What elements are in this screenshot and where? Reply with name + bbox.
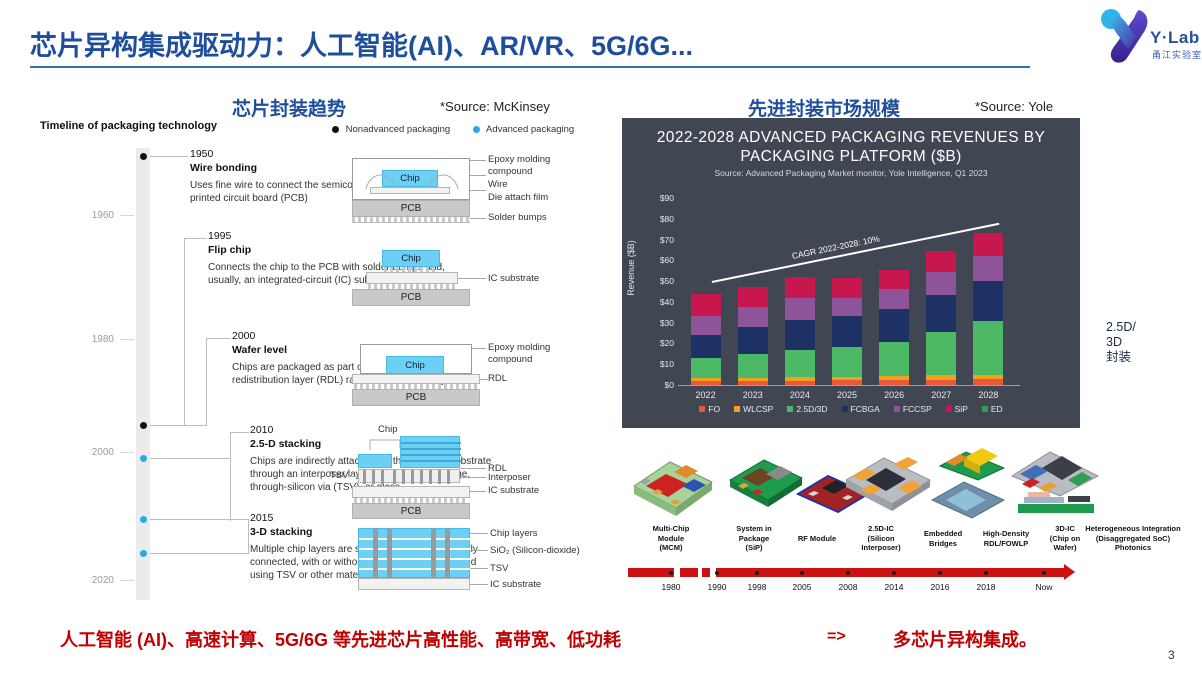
chart-ytick-50: $50	[644, 276, 674, 286]
roadmap-year-2014: 2014	[874, 582, 914, 592]
connector-2010-stub	[150, 458, 230, 459]
chart-segment-2.5D/3D	[879, 342, 909, 376]
chart-xtick-2024: 2024	[775, 390, 825, 400]
axis-year-1980: 1980	[74, 334, 114, 345]
legend-item-advanced: Advanced packaging	[473, 124, 574, 135]
right-section-source: *Source: Yole	[975, 99, 1053, 114]
roadmap-caption-1: System in Package (SiP)	[722, 524, 786, 553]
chip-block: Chip	[386, 356, 444, 374]
roadmap-bar-seg-2	[702, 568, 710, 577]
label-die-attach-film: Die attach film	[488, 192, 548, 204]
high-density-rdl-icon	[934, 440, 1014, 482]
chart-subtitle: Source: Advanced Packaging Market monito…	[622, 168, 1080, 178]
chart-segment-FCCSP	[832, 298, 862, 317]
connector-1995	[184, 238, 207, 425]
pcb-block: PCB	[352, 200, 470, 217]
lead-die-attach	[470, 190, 486, 191]
chart-legend-item-2.5D/3D: 2.5D/3D	[787, 404, 827, 414]
label-wire: Wire	[488, 179, 508, 191]
timeline-dot-2000	[140, 422, 147, 429]
chart-legend-swatch-ED	[982, 406, 988, 412]
conclusion-right: 多芯片异构集成。	[893, 626, 1037, 652]
stacked-chip-block	[400, 436, 460, 468]
three-d-diagram: Chip layers SiO₂ (Silicon-dioxide) TSV I…	[352, 528, 602, 594]
chart-segment-FCCSP	[738, 307, 768, 327]
photonics-icon	[1014, 486, 1098, 518]
roadmap-caption-3: 2.5D-IC (Silicon Interposer)	[848, 524, 914, 553]
highlight-brace	[1094, 336, 1102, 404]
connector-1950	[150, 156, 188, 157]
flip-chip-diagram: Chip PCB IC substrate	[352, 250, 602, 308]
pcb-block: PCB	[352, 389, 480, 406]
chart-segment-FCCSP	[691, 316, 721, 335]
timeline-dot-2015a	[140, 516, 147, 523]
chart-segment-FO	[738, 381, 768, 385]
chart-segment-FCBGA	[879, 309, 909, 342]
chart-segment-2.5D/3D	[973, 321, 1003, 375]
chart-plot-area	[682, 198, 1012, 385]
axis-year-1960: 1960	[74, 210, 114, 221]
interposer-block	[358, 469, 460, 483]
roadmap-dot-1980	[669, 571, 673, 575]
timeline-legend: Nonadvanced packaging Advanced packaging	[332, 124, 594, 135]
yole-chart-panel: 2022-2028 ADVANCED PACKAGING REVENUES BY…	[622, 118, 1080, 428]
roadmap-caption-2: RF Module	[786, 534, 848, 544]
conclusion-left: 人工智能 (AI)、高速计算、5G/6G 等先进芯片高性能、高带宽、低功耗	[60, 626, 621, 652]
chart-legend-item-FCCSP: FCCSP	[894, 404, 932, 414]
chart-legend-item-WLCSP: WLCSP	[734, 404, 773, 414]
label-chip: Chip	[378, 424, 398, 436]
lead-solder-bumps	[470, 218, 486, 219]
legend-item-nonadvanced: Nonadvanced packaging	[332, 124, 450, 135]
lead-tsv	[350, 476, 358, 477]
legend-label-nonadvanced: Nonadvanced packaging	[346, 124, 451, 135]
roadmap-arrow-icon	[1064, 564, 1075, 580]
label-chip-layers: Chip layers	[490, 528, 538, 540]
timeline-dot-2015b	[140, 550, 147, 557]
chart-ytick-70: $70	[644, 235, 674, 245]
chart-bar-2027	[926, 251, 956, 385]
ic-substrate-block	[358, 578, 470, 590]
timeline-axis-track	[136, 148, 150, 600]
chart-bar-2028	[973, 233, 1003, 385]
chip-block: Chip	[382, 250, 440, 267]
highlight-dash	[1084, 352, 1096, 354]
roadmap-year-2016: 2016	[920, 582, 960, 592]
chip-layer-stack	[358, 528, 470, 578]
chip-block-left	[358, 454, 392, 468]
page-number: 3	[1168, 648, 1175, 662]
roadmap-caption-4: Embedded Bridges	[910, 529, 976, 548]
timeline-dot-1950	[140, 153, 147, 160]
roadmap-year-1998: 1998	[737, 582, 777, 592]
chart-segment-FO	[691, 381, 721, 385]
roadmap-bar-seg-3	[716, 568, 1064, 577]
chart-segment-FCCSP	[879, 289, 909, 309]
lead-ic-substrate	[470, 584, 488, 585]
chart-segment-2.5D/3D	[738, 354, 768, 378]
roadmap-dot-2014	[892, 571, 896, 575]
lead-ic-substrate	[458, 278, 486, 279]
chart-segment-FCBGA	[926, 295, 956, 331]
chart-legend-swatch-SiP	[946, 406, 952, 412]
chart-legend-label-ED: ED	[991, 404, 1003, 414]
chart-baseline	[678, 385, 1020, 386]
chart-ytick-40: $40	[644, 297, 674, 307]
chart-xtick-2028: 2028	[963, 390, 1013, 400]
chart-segment-FCBGA	[738, 327, 768, 354]
label-ic-substrate: IC substrate	[488, 273, 539, 285]
chart-segment-FCCSP	[785, 298, 815, 320]
logo-subtext: 甬江实验室	[1152, 48, 1202, 61]
roadmap-bar-seg-1	[680, 568, 698, 577]
connector-2015b-stub	[150, 553, 248, 554]
connector-2015-vert	[248, 519, 249, 554]
roadmap-dot-2018	[984, 571, 988, 575]
chart-bar-2025	[832, 278, 862, 385]
chart-title: 2022-2028 ADVANCED PACKAGING REVENUES BY…	[622, 128, 1080, 166]
chart-annotation-text: 2.5D/ 3D 封装	[1106, 320, 1136, 365]
chart-segment-FO	[832, 380, 862, 385]
chart-segment-FO	[973, 379, 1003, 385]
axis-tick-2020	[120, 580, 134, 581]
lead-wire	[470, 175, 486, 176]
slide-root: 芯片异构集成驱动力：人工智能(AI)、AR/VR、5G/6G... Y·Lab …	[0, 0, 1202, 676]
label-ic-substrate: IC substrate	[488, 485, 539, 497]
timeline-panel-title: Timeline of packaging technology	[40, 120, 217, 132]
roadmap-dot-1990	[715, 571, 719, 575]
label-epoxy-molding: Epoxy molding compound	[488, 342, 550, 366]
roadmap-year-2008: 2008	[828, 582, 868, 592]
solder-bumps-row	[352, 217, 470, 223]
label-ic-substrate: IC substrate	[490, 579, 541, 591]
right-section-heading: 先进封装市场规模	[748, 94, 900, 121]
chart-segment-FCCSP	[926, 272, 956, 295]
lead-rdl	[460, 468, 486, 469]
chart-segment-SiP	[879, 270, 909, 289]
two-five-d-diagram: Chip TSV PCB RDL	[352, 424, 602, 514]
chart-xtick-2026: 2026	[869, 390, 919, 400]
chart-legend-label-FCBGA: FCBGA	[851, 404, 880, 414]
chart-legend-label-WLCSP: WLCSP	[743, 404, 773, 414]
chart-segment-FCBGA	[785, 320, 815, 350]
roadmap-caption-5: High-Density RDL/FOWLP	[968, 529, 1044, 548]
chart-segment-SiP	[785, 277, 815, 298]
roadmap-bar-seg-0	[628, 568, 674, 577]
legend-swatch-nonadvanced	[332, 126, 339, 133]
axis-tick-2000	[120, 452, 134, 453]
left-section-source: *Source: McKinsey	[440, 99, 550, 114]
bond-wire-icon	[360, 168, 464, 190]
axis-tick-1960	[120, 215, 134, 216]
label-epoxy-molding: Epoxy molding compound	[488, 154, 550, 178]
label-sio2: SiO₂ (Silicon-dioxide)	[490, 545, 580, 557]
logo-text: Y·Lab	[1150, 28, 1200, 48]
chart-ytick-10: $10	[644, 359, 674, 369]
chart-legend-label-FCCSP: FCCSP	[903, 404, 932, 414]
roadmap-dot-2016	[938, 571, 942, 575]
chart-ytick-0: $0	[644, 380, 674, 390]
chart-ytick-90: $90	[644, 193, 674, 203]
roadmap-year-2005: 2005	[782, 582, 822, 592]
roadmap-dot-Now	[1042, 571, 1046, 575]
connector-2010	[230, 432, 249, 521]
roadmap-year-2018: 2018	[966, 582, 1006, 592]
roadmap-caption-0: Multi-Chip Module (MCM)	[636, 524, 706, 553]
label-rdl: RDL	[488, 373, 507, 385]
wafer-level-diagram: Chip PCB Epoxy molding compound RDL	[352, 342, 602, 404]
roadmap-year-1980: 1980	[651, 582, 691, 592]
legend-swatch-advanced	[473, 126, 480, 133]
axis-year-2020: 2020	[74, 575, 114, 586]
lead-epoxy	[472, 348, 486, 349]
event-year: 1995	[208, 230, 456, 243]
label-tsv: TSV	[490, 563, 508, 575]
roadmap-dot-2008	[846, 571, 850, 575]
chart-legend-swatch-FCBGA	[842, 406, 848, 412]
left-section-heading: 芯片封装趋势	[232, 94, 346, 121]
chart-ytick-20: $20	[644, 338, 674, 348]
ic-substrate-block	[366, 272, 458, 284]
roadmap-caption-7: Heterogeneous Integration (Disaggregated…	[1074, 524, 1192, 553]
label-tsv: TSV	[330, 470, 348, 482]
chart-ytick-60: $60	[644, 255, 674, 265]
y-lab-logo-icon	[1098, 6, 1156, 66]
pcb-block: PCB	[352, 289, 470, 306]
lead-interposer	[460, 477, 486, 478]
chart-bar-2022	[691, 294, 721, 385]
chart-legend-item-SiP: SiP	[946, 404, 968, 414]
chart-xtick-2025: 2025	[822, 390, 872, 400]
chart-ytick-30: $30	[644, 318, 674, 328]
roadmap-year-1990: 1990	[697, 582, 737, 592]
connector-2015a-stub	[150, 519, 248, 520]
chart-ytick-80: $80	[644, 214, 674, 224]
lead-sio2	[470, 550, 488, 551]
page-title: 芯片异构集成驱动力：人工智能(AI)、AR/VR、5G/6G...	[30, 24, 693, 63]
timeline-dot-2010	[140, 455, 147, 462]
chart-segment-FO	[926, 380, 956, 385]
chart-legend-swatch-2.5D/3D	[787, 406, 793, 412]
chart-segment-SiP	[691, 294, 721, 317]
chart-segment-FO	[879, 380, 909, 385]
chart-segment-SiP	[738, 287, 768, 307]
chart-segment-2.5D/3D	[926, 332, 956, 376]
roadmap-dot-1998	[755, 571, 759, 575]
chart-legend-swatch-FO	[699, 406, 705, 412]
wire-bonding-diagram: Chip PCB Epoxy molding compound Wire Die…	[352, 152, 602, 222]
chart-legend: FOWLCSP2.5D/3DFCBGAFCCSPSiPED	[622, 404, 1080, 414]
legend-label-advanced: Advanced packaging	[486, 124, 574, 135]
chart-bar-2026	[879, 270, 909, 385]
chart-xtick-2022: 2022	[681, 390, 731, 400]
chart-legend-swatch-FCCSP	[894, 406, 900, 412]
chart-segment-FCBGA	[832, 316, 862, 347]
chart-legend-item-FCBGA: FCBGA	[842, 404, 880, 414]
lead-tsv	[470, 568, 488, 569]
logo: Y·Lab 甬江实验室	[1098, 6, 1198, 68]
chart-segment-FCCSP	[973, 256, 1003, 281]
axis-tick-1980	[120, 339, 134, 340]
label-interposer: Interposer	[488, 472, 531, 484]
chart-segment-2.5D/3D	[691, 358, 721, 378]
chart-segment-SiP	[926, 251, 956, 272]
lead-chip-layers	[470, 533, 488, 534]
connector-2000-stub	[150, 425, 206, 426]
chart-legend-label-FO: FO	[708, 404, 720, 414]
chart-segment-FO	[785, 381, 815, 385]
chart-segment-SiP	[832, 278, 862, 298]
chart-legend-item-FO: FO	[699, 404, 720, 414]
chart-segment-2.5D/3D	[785, 350, 815, 377]
roadmap-year-Now: Now	[1024, 582, 1064, 592]
axis-year-2000: 2000	[74, 447, 114, 458]
chart-legend-swatch-WLCSP	[734, 406, 740, 412]
two-five-d-ic-icon	[840, 440, 936, 512]
title-underline	[30, 66, 1030, 68]
chart-segment-2.5D/3D	[832, 347, 862, 376]
chart-bar-2023	[738, 287, 768, 385]
ic-substrate-block	[352, 486, 470, 498]
chart-segment-FCBGA	[691, 335, 721, 358]
pcb-block: PCB	[352, 503, 470, 519]
rdl-block	[352, 374, 480, 384]
chart-legend-label-SiP: SiP	[955, 404, 968, 414]
lead-ic-substrate	[470, 491, 486, 492]
chart-xtick-2027: 2027	[916, 390, 966, 400]
chart-bar-2024	[785, 277, 815, 385]
chart-xtick-2023: 2023	[728, 390, 778, 400]
chart-ylabel: Revenue ($B)	[626, 240, 636, 296]
packaging-roadmap: Multi-Chip Module (MCM) System in Packag…	[622, 440, 1092, 615]
label-solder-bumps: Solder bumps	[488, 212, 547, 224]
conclusion-arrow: =>	[827, 628, 846, 646]
chart-legend-item-ED: ED	[982, 404, 1003, 414]
lead-epoxy	[470, 160, 486, 161]
chart-segment-SiP	[973, 233, 1003, 256]
chart-segment-FCBGA	[973, 281, 1003, 320]
mcm-package-icon	[626, 442, 716, 516]
chart-legend-label-2.5D/3D: 2.5D/3D	[796, 404, 827, 414]
connector-2000	[206, 338, 231, 426]
lead-rdl	[480, 379, 488, 380]
roadmap-dot-2005	[800, 571, 804, 575]
